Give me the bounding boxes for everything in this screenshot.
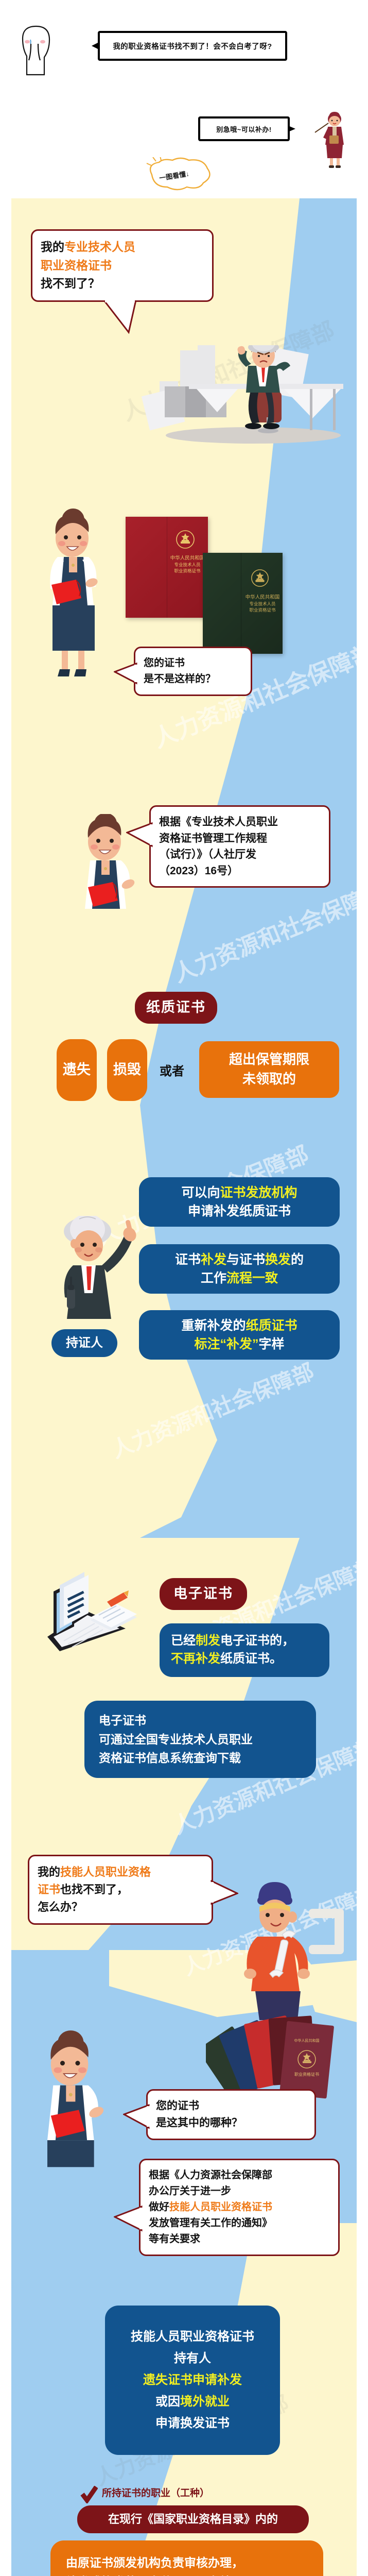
badge-paper-certificate: 纸质证书 xyxy=(135,992,217,1024)
step-line-2: 申请补发纸质证书 xyxy=(188,1202,291,1221)
confirm-line-1: 您的证书 xyxy=(156,2098,306,2115)
step-line-1: 可以向证书发放机构 xyxy=(181,1183,297,1202)
question-line-3: 怎么办？ xyxy=(38,1899,203,1916)
step-line-1: 证书补发与证书换发的 xyxy=(175,1250,304,1269)
in-catalog-badge: 在现行《国家职业资格目录》内的 xyxy=(77,2505,309,2533)
question-card-professional: 我的专业技术人员 职业资格证书 找不到了？ xyxy=(31,229,214,302)
holder-line-2: 持有人 xyxy=(174,2348,211,2369)
case-line-2: 未领取的 xyxy=(242,1070,296,1089)
basis-line-3: （试行）》（人社厅发 xyxy=(159,846,321,863)
bubble-tail xyxy=(114,2206,143,2233)
confirm-card-skill: 您的证书 是这其中的哪种？ xyxy=(146,2089,316,2140)
basis-line-1: 根据《人力资源社会保障部 xyxy=(149,2167,330,2183)
cert-title: 中华人民共和国 xyxy=(244,593,281,600)
e-cert-note: 已经制发电子证书的， 不再补发纸质证书。 xyxy=(160,1623,329,1677)
stressed-office-worker-illustration xyxy=(140,345,356,448)
question-line-1: 我的专业技术人员 xyxy=(41,238,204,257)
infographic-body: 人力资源和社会保障部 人力资源和社会保障部 人力资源和社会保障部 人力资源和社会… xyxy=(11,198,357,2576)
in-catalog-label: 所持证书的职业（工种） xyxy=(102,2486,209,2500)
in-catalog-body: 由原证书颁发机构负责审核办理， 补发或换发的证书使用原证书编码 并在备注栏内注明 xyxy=(50,2540,323,2576)
intro-section: 我的职业资格证书找不到了！会不会白考了呀? 别急哦~可以补办! xyxy=(0,0,368,155)
question-line-2: 证书也找不到了， xyxy=(38,1881,203,1899)
holder-line-1: 技能人员职业资格证书 xyxy=(131,2326,254,2348)
confirm-line-1: 您的证书 xyxy=(144,655,242,671)
bubble-tail xyxy=(102,300,143,334)
question-card-skill: 我的技能人员职业资格 证书也找不到了， 怎么办？ xyxy=(28,1855,213,1925)
teacher-illustration xyxy=(314,111,350,170)
body-line-2: 补发或换发的证书使用原证书编码 xyxy=(66,2572,243,2576)
paper-step-2: 证书补发与证书换发的 工作流程一致 xyxy=(139,1244,340,1294)
confirm-line-2: 是这其中的哪种？ xyxy=(156,2115,306,2132)
confirm-card-professional: 您的证书 是不是这样的？ xyxy=(134,647,252,696)
note-line-2: 不再补发纸质证书。 xyxy=(171,1650,282,1668)
cert-subtitle-1: 专业技术人员 xyxy=(169,562,206,568)
bubble-tail xyxy=(123,2104,150,2130)
confirm-line-2: 是不是这样的？ xyxy=(144,671,242,687)
see-at-a-glance-blob: 一图看懂↓ xyxy=(142,157,219,191)
basis-line-3: 做好技能人员职业资格证书 xyxy=(149,2199,330,2215)
basis-card-skill: 根据《人力资源社会保障部 办公厅关于进一步 做好技能人员职业资格证书 发放管理有… xyxy=(139,2159,340,2256)
body-line-1: 由原证书颁发机构负责审核办理， xyxy=(66,2553,243,2572)
query-line-2: 可通过全国专业技术人员职业 xyxy=(99,1730,253,1749)
holder-label: 持证人 xyxy=(51,1329,117,1357)
step-line-1: 重新补发的纸质证书 xyxy=(181,1316,297,1335)
holder-line-5: 申请换发证书 xyxy=(155,2413,230,2434)
case-lost: 遗失 xyxy=(57,1039,97,1101)
intro-answer-text: 别急哦~可以补办! xyxy=(216,124,271,134)
cert-nation-text: 中华人民共和国 xyxy=(294,2038,320,2043)
holder-line-3: 遗失证书申请补发 xyxy=(143,2369,242,2391)
red-certificate-illustration: 中华人民共和国 专业技术人员 职业资格证书 xyxy=(126,517,208,618)
basis-line-2: 办公厅关于进一步 xyxy=(149,2183,330,2199)
basis-line-1: 根据《专业技术人员职业 xyxy=(159,814,321,831)
query-line-1: 电子证书 xyxy=(99,1711,146,1730)
intro-answer-bubble: 别急哦~可以补办! xyxy=(198,116,290,141)
question-line-3: 找不到了？ xyxy=(41,275,204,293)
bubble-tail xyxy=(288,126,295,132)
certificate-holder-illustration xyxy=(48,1216,141,1334)
question-line-1: 我的技能人员职业资格 xyxy=(38,1863,203,1881)
female-advisor-illustration-3 xyxy=(30,2027,117,2182)
note-line-1: 已经制发电子证书的， xyxy=(171,1632,294,1650)
basis-line-2: 资格证书管理工作规程 xyxy=(159,831,321,847)
infographic-page: 我的职业资格证书找不到了！会不会白考了呀? 别急哦~可以补办! xyxy=(0,0,368,2576)
conjunction-or: 或者 xyxy=(160,1061,184,1079)
intro-question-text: 我的职业资格证书找不到了！会不会白考了呀? xyxy=(113,41,272,52)
cert-subtitle-2: 职业资格证书 xyxy=(244,607,281,613)
worried-face-icon xyxy=(15,23,57,77)
laptop-documents-illustration xyxy=(41,1564,149,1672)
bubble-tail xyxy=(92,42,99,49)
basis-line-4: （2023）16号） xyxy=(159,863,321,879)
case-damaged: 损毁 xyxy=(107,1039,147,1101)
skill-holder-box: 技能人员职业资格证书 持有人 遗失证书申请补发 或因境外就业 申请换发证书 xyxy=(105,2306,280,2455)
case-over-retention: 超出保管期限 未领取的 xyxy=(199,1041,339,1098)
step-line-2: 工作流程一致 xyxy=(201,1269,278,1287)
cert-title: 中华人民共和国 xyxy=(169,554,206,561)
step-line-2: 标注“补发”字样 xyxy=(194,1335,284,1353)
green-certificate-illustration: 中华人民共和国 专业技术人员 职业资格证书 xyxy=(203,553,283,654)
query-line-3: 资格证书信息系统查询下载 xyxy=(99,1749,241,1768)
female-advisor-illustration-1 xyxy=(37,507,114,683)
in-catalog-header: 所持证书的职业（工种） xyxy=(80,2486,322,2503)
e-cert-query: 电子证书 可通过全国专业技术人员职业 资格证书信息系统查询下载 xyxy=(84,1701,316,1778)
paper-step-1: 可以向证书发放机构 申请补发纸质证书 xyxy=(139,1177,340,1227)
holder-line-4: 或因境外就业 xyxy=(155,2391,230,2413)
bubble-tail xyxy=(126,822,153,848)
case-line-1: 超出保管期限 xyxy=(229,1050,309,1070)
check-icon xyxy=(80,2486,98,2503)
basis-card-professional: 根据《专业技术人员职业 资格证书管理工作规程 （试行）》（人社厅发 （2023）… xyxy=(149,805,330,888)
cert-subtitle-1: 专业技术人员 xyxy=(244,601,281,607)
intro-question-bubble: 我的职业资格证书找不到了！会不会白考了呀? xyxy=(98,31,287,61)
national-emblem-icon xyxy=(250,568,270,588)
basis-line-5: 等有关要求 xyxy=(149,2231,330,2247)
badge-electronic-certificate: 电子证书 xyxy=(160,1578,247,1610)
bubble-tail xyxy=(114,663,137,685)
skilled-worker-illustration xyxy=(233,1873,351,2022)
cert-type-text: 职业资格证书 xyxy=(294,2072,319,2077)
basis-line-4: 发放管理有关工作的通知》 xyxy=(149,2215,330,2231)
cert-subtitle-2: 职业资格证书 xyxy=(169,568,206,574)
paper-step-3: 重新补发的纸质证书 标注“补发”字样 xyxy=(139,1310,340,1360)
question-line-2: 职业资格证书 xyxy=(41,257,204,275)
national-emblem-icon xyxy=(175,529,196,550)
